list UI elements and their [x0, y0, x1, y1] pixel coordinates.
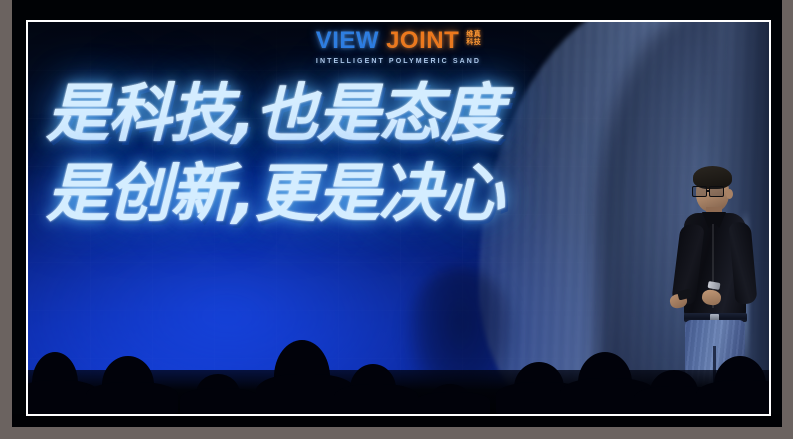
- audience-shoulder: [334, 384, 418, 414]
- logo-cn-char-3: 科: [466, 38, 474, 46]
- logo-word-view: VIEW: [316, 29, 379, 53]
- screen-headline: 是科技,也是态度 是创新,更是决心: [46, 74, 606, 234]
- audience-shoulder: [416, 392, 490, 414]
- logo-cn-char-4: 技: [474, 38, 482, 46]
- screenshot-root: VIEW JOINT 维 真 科 技 INTELLIGENT POLYMERIC…: [0, 0, 793, 439]
- stage-photograph: VIEW JOINT 维 真 科 技 INTELLIGENT POLYMERIC…: [26, 20, 771, 416]
- logo-cn-char-1: 维: [466, 30, 474, 38]
- logo-word-joint: JOINT: [386, 29, 459, 53]
- headline-line-1: 是科技,也是态度: [46, 74, 606, 154]
- logo-chinese-mark: 维 真 科 技: [466, 30, 481, 46]
- glasses-lens-right: [709, 186, 724, 197]
- headline-line-2: 是创新,更是决心: [46, 154, 606, 234]
- audience-silhouettes: [28, 304, 769, 414]
- brand-logo: VIEW JOINT 维 真 科 技 INTELLIGENT POLYMERIC…: [28, 29, 769, 65]
- glasses-lens-left: [692, 186, 707, 197]
- glasses-icon: [692, 186, 730, 197]
- logo-tagline: INTELLIGENT POLYMERIC SAND: [28, 58, 769, 65]
- audience-shoulder: [86, 382, 178, 414]
- audience-shoulder: [180, 388, 260, 414]
- audience-shoulder: [696, 380, 769, 414]
- logo-cn-char-2: 真: [474, 30, 482, 38]
- logo-wordmark: VIEW JOINT 维 真 科 技: [316, 29, 482, 53]
